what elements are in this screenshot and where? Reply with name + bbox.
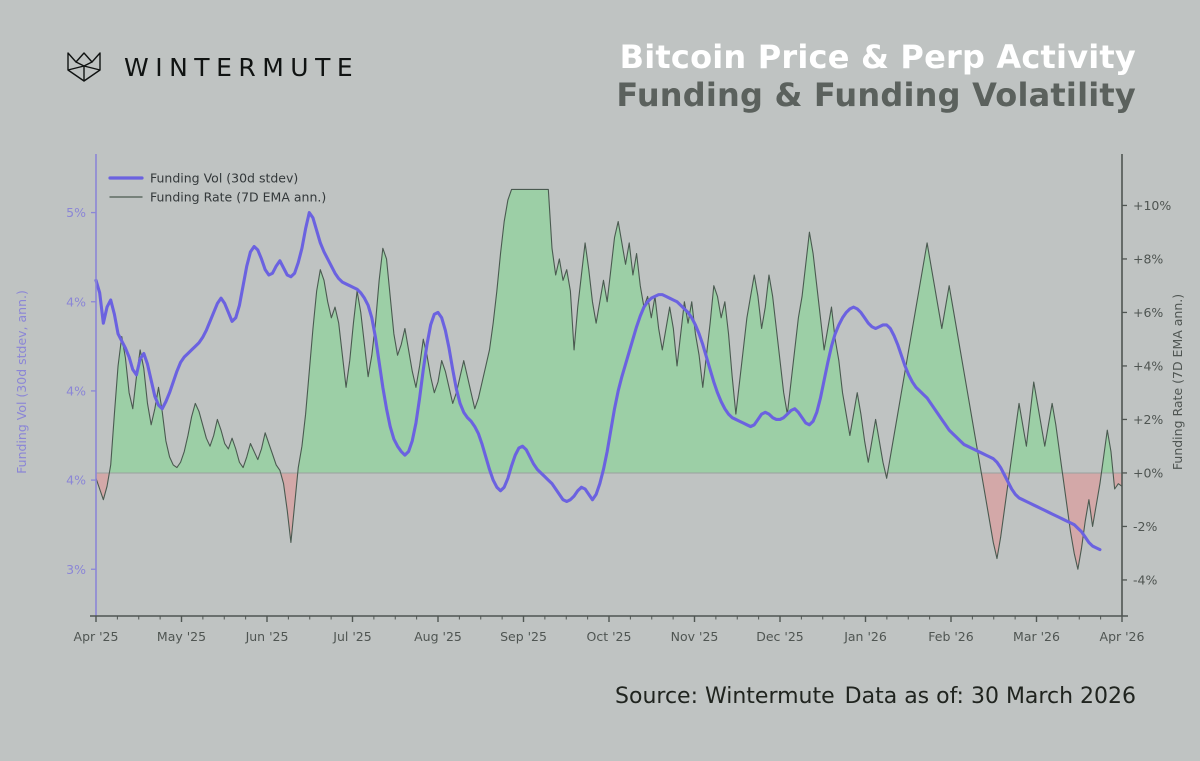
- left-y-tick-label: 5%: [66, 205, 86, 220]
- chart-container: Apr '25May '25Jun '25Jul '25Aug '25Sep '…: [0, 148, 1200, 658]
- left-y-axis: 5%4%4%4%3%Funding Vol (30d stdev, ann.): [14, 205, 96, 577]
- title-block: Bitcoin Price & Perp Activity Funding & …: [616, 40, 1136, 114]
- footer-source: Source: Wintermute: [615, 684, 835, 709]
- brand-name: WINTERMUTE: [124, 53, 359, 82]
- left-y-axis-title: Funding Vol (30d stdev, ann.): [14, 290, 29, 474]
- page-title: Bitcoin Price & Perp Activity: [616, 40, 1136, 76]
- right-y-tick-label: -4%: [1133, 572, 1157, 587]
- left-y-tick-label: 4%: [66, 383, 86, 398]
- x-tick-label: Jul '25: [332, 629, 371, 644]
- right-y-tick-label: +8%: [1133, 251, 1163, 266]
- footer: Source: WintermuteData as of: 30 March 2…: [615, 684, 1136, 709]
- x-tick-label: Jun '25: [245, 629, 289, 644]
- x-tick-label: Apr '25: [74, 629, 119, 644]
- funding-chart: Apr '25May '25Jun '25Jul '25Aug '25Sep '…: [0, 148, 1200, 658]
- x-tick-label: Apr '26: [1100, 629, 1145, 644]
- right-y-axis: +10%+8%+6%+4%+2%+0%-2%-4%Funding Rate (7…: [1122, 198, 1185, 588]
- x-tick-label: May '25: [157, 629, 206, 644]
- x-axis: Apr '25May '25Jun '25Jul '25Aug '25Sep '…: [74, 616, 1145, 644]
- right-y-tick-label: +10%: [1133, 198, 1171, 213]
- x-tick-label: Aug '25: [414, 629, 462, 644]
- legend-label: Funding Vol (30d stdev): [150, 171, 298, 186]
- right-y-axis-title: Funding Rate (7D EMA ann.): [1170, 294, 1185, 470]
- footer-data-as-of: Data as of: 30 March 2026: [845, 684, 1136, 709]
- chart-legend: Funding Vol (30d stdev)Funding Rate (7D …: [110, 171, 326, 205]
- x-tick-label: Sep '25: [500, 629, 547, 644]
- page-subtitle: Funding & Funding Volatility: [616, 78, 1136, 114]
- x-tick-label: Dec '25: [756, 629, 804, 644]
- x-tick-label: Oct '25: [587, 629, 632, 644]
- x-tick-label: Nov '25: [671, 629, 719, 644]
- right-y-tick-label: -2%: [1133, 519, 1157, 534]
- right-y-tick-label: +4%: [1133, 358, 1163, 373]
- funding-rate-area: [96, 189, 1122, 569]
- left-y-tick-label: 3%: [66, 562, 86, 577]
- legend-label: Funding Rate (7D EMA ann.): [150, 190, 326, 205]
- right-y-tick-label: +2%: [1133, 412, 1163, 427]
- x-tick-label: Jan '26: [843, 629, 887, 644]
- page-header: WINTERMUTE Bitcoin Price & Perp Activity…: [0, 0, 1200, 148]
- right-y-tick-label: +0%: [1133, 465, 1163, 480]
- brand-lockup: WINTERMUTE: [62, 50, 359, 84]
- left-y-tick-label: 4%: [66, 294, 86, 309]
- x-tick-label: Mar '26: [1013, 629, 1060, 644]
- right-y-tick-label: +6%: [1133, 305, 1163, 320]
- wintermute-logo-icon: [62, 50, 106, 84]
- left-y-tick-label: 4%: [66, 473, 86, 488]
- x-tick-label: Feb '26: [928, 629, 973, 644]
